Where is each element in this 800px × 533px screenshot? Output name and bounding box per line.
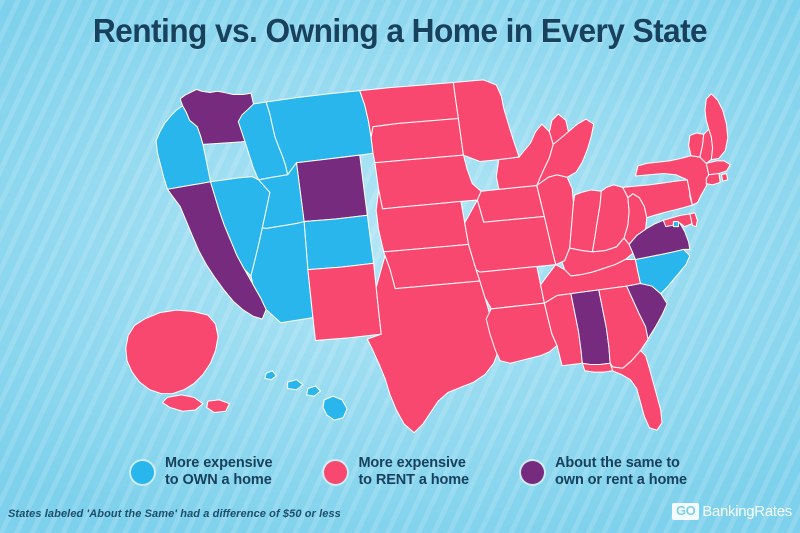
gobankingrates-logo[interactable]: GO BankingRates — [672, 503, 792, 520]
state-MA — [706, 161, 730, 175]
state-CT — [706, 174, 720, 185]
legend-swatch-own-icon — [131, 461, 154, 484]
map-legend: More expensive to OWN a home More expens… — [0, 448, 800, 496]
state-HI — [265, 371, 347, 420]
state-DC — [673, 222, 678, 227]
state-MN — [453, 80, 519, 162]
state-IA — [477, 186, 544, 223]
us-map-svg — [40, 66, 780, 441]
legend-label-rent: More expensive to RENT a home — [358, 455, 469, 489]
legend-label-same: About the same to own or rent a home — [555, 455, 687, 489]
state-RI — [721, 174, 727, 182]
logo-wordmark: BankingRates — [702, 503, 792, 520]
state-NE — [375, 155, 481, 209]
legend-swatch-rent-icon — [324, 461, 347, 484]
legend-label-own: More expensive to OWN a home — [165, 455, 272, 489]
legend-swatch-same-icon — [521, 461, 544, 484]
logo-go-mark: GO — [672, 503, 699, 520]
legend-item-own[interactable]: More expensive to OWN a home — [131, 455, 272, 489]
state-WY — [296, 155, 367, 221]
legend-item-rent[interactable]: More expensive to RENT a home — [324, 455, 469, 489]
us-choropleth-map — [40, 66, 780, 441]
legend-item-same[interactable]: About the same to own or rent a home — [521, 455, 687, 489]
footnote: States labeled 'About the Same' had a di… — [8, 508, 341, 520]
infographic-canvas: Renting vs. Owning a Home in Every State — [0, 0, 800, 533]
state-CO — [304, 215, 374, 269]
state-shapes — [126, 80, 731, 433]
page-title: Renting vs. Owning a Home in Every State — [16, 12, 784, 50]
state-AK — [126, 310, 230, 412]
state-NM — [308, 263, 381, 340]
